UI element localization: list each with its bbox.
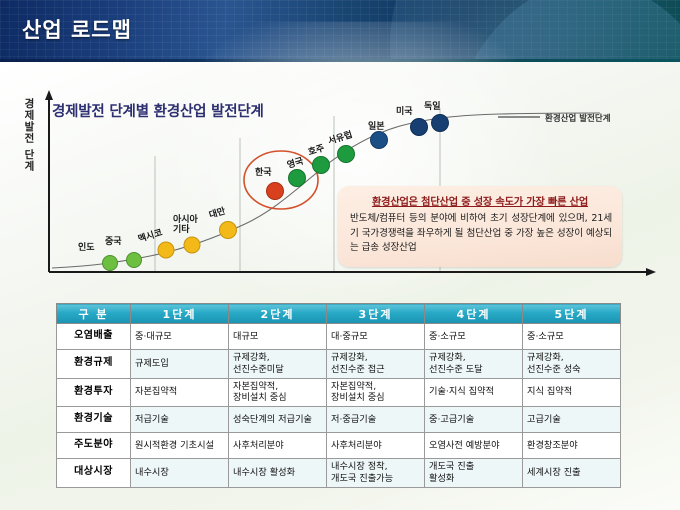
data-point-china [127,253,142,268]
chart-y-axis [45,90,53,272]
table-cell: 개도국 진출활성화 [425,459,523,488]
table-cell: 세계시장 진출 [523,459,621,488]
data-label-other-asia: 아시아기타 [173,215,198,236]
korea-highlight-ellipse [244,151,318,209]
table-col-header: 5단계 [523,304,621,324]
callout-body: 반도체/컴퓨터 등의 분야에 비하여 초기 성장단계에 있으며, 21세기 국가… [350,212,612,256]
table-col-header: 2단계 [229,304,327,324]
data-point-korea [267,183,284,200]
table-col-header: 1단계 [131,304,229,324]
callout-box: 환경산업은 첨단산업 중 성장 속도가 가장 빠른 산업 반도체/컴퓨터 등의 … [338,186,622,267]
table-cell: 중·대규모 [131,324,229,350]
table-body: 오염배출중·대규모대규모대·중규모중·소규모중·소규모환경규제규제도입규제강화,… [57,324,621,488]
table-row: 환경규제규제도입규제강화,선진수준미달규제강화,선진수준 접근규제강화,선진수준… [57,350,621,379]
table-row: 환경투자자본집약적자본집약적,장비설치 중심자본집약적,장비설치 중심기술·지식… [57,378,621,407]
data-point-usa [411,119,428,136]
table-cell: 규제강화,선진수준미달 [229,350,327,379]
data-point-australia [313,157,330,174]
table-cell: 중·고급기술 [425,407,523,433]
data-label-korea: 한국 [255,169,272,178]
data-point-japan [371,132,388,149]
table-row: 대상시장내수시장내수시장 활성화내수시장 정착,개도국 진출가능개도국 진출활성… [57,459,621,488]
table-col-header: 3단계 [327,304,425,324]
data-point-west-europe [338,146,355,163]
table-cell: 저급기술 [131,407,229,433]
table-cell: 성숙단계의 저급기술 [229,407,327,433]
table-cell: 사후처리분야 [229,433,327,459]
table-cell: 자본집약적,장비설치 중심 [327,378,425,407]
data-point-other-asia [184,237,200,253]
table-cell: 자본집약적,장비설치 중심 [229,378,327,407]
page-title: 산업 로드맵 [22,14,132,44]
table-cell: 저·중급기술 [327,407,425,433]
data-point-india [103,256,118,271]
table-cell: 규제강화,선진수준 성숙 [523,350,621,379]
data-label-china: 중국 [105,238,122,247]
table-header-row: 구 분 1단계 2단계 3단계 4단계 5단계 [57,304,621,324]
table-cell: 환경창조분야 [523,433,621,459]
table-row-header: 오염배출 [57,324,131,350]
table-cell: 고급기술 [523,407,621,433]
roadmap-table: 구 분 1단계 2단계 3단계 4단계 5단계 오염배출중·대규모대규모대·중규… [56,303,621,488]
data-point-uk [289,170,306,187]
table-cell: 기술·지식 집약적 [425,378,523,407]
table-row-header: 환경규제 [57,350,131,379]
data-label-india: 인도 [78,244,95,253]
table-row-header: 환경투자 [57,378,131,407]
table-cell: 대·중규모 [327,324,425,350]
data-label-germany: 독일 [424,103,441,112]
table-row-header: 환경기술 [57,407,131,433]
chart-series-label: 환경산업 발전단계 [545,112,611,124]
data-point-mexico [158,242,174,258]
table-cell: 중·소규모 [425,324,523,350]
data-point-germany [432,115,449,132]
table-cell: 규제강화,선진수준 접근 [327,350,425,379]
data-label-usa: 미국 [396,108,413,117]
table-cell: 내수시장 정착,개도국 진출가능 [327,459,425,488]
callout-title: 환경산업은 첨단산업 중 성장 속도가 가장 빠른 산업 [338,193,622,208]
table-cell: 오염사전 예방분야 [425,433,523,459]
data-label-japan: 일본 [368,123,385,132]
table-col-header: 4단계 [425,304,523,324]
table-row: 주도분야원시적환경 기초시설사후처리분야사후처리분야오염사전 예방분야환경창조분… [57,433,621,459]
table-cell: 자본집약적 [131,378,229,407]
table-row: 오염배출중·대규모대규모대·중규모중·소규모중·소규모 [57,324,621,350]
table-col-header: 구 분 [57,304,131,324]
table-cell: 규제강화,선진수준 도달 [425,350,523,379]
table-cell: 내수시장 [131,459,229,488]
chart-x-axis [49,268,656,276]
table-cell: 원시적환경 기초시설 [131,433,229,459]
table-cell: 규제도입 [131,350,229,379]
table-cell: 지식 집약적 [523,378,621,407]
table-row: 환경기술저급기술성숙단계의 저급기술저·중급기술중·고급기술고급기술 [57,407,621,433]
table-row-header: 주도분야 [57,433,131,459]
table-row-header: 대상시장 [57,459,131,488]
table-cell: 중·소규모 [523,324,621,350]
table-cell: 대규모 [229,324,327,350]
table-cell: 사후처리분야 [327,433,425,459]
table-cell: 내수시장 활성화 [229,459,327,488]
data-point-taiwan [220,222,237,239]
